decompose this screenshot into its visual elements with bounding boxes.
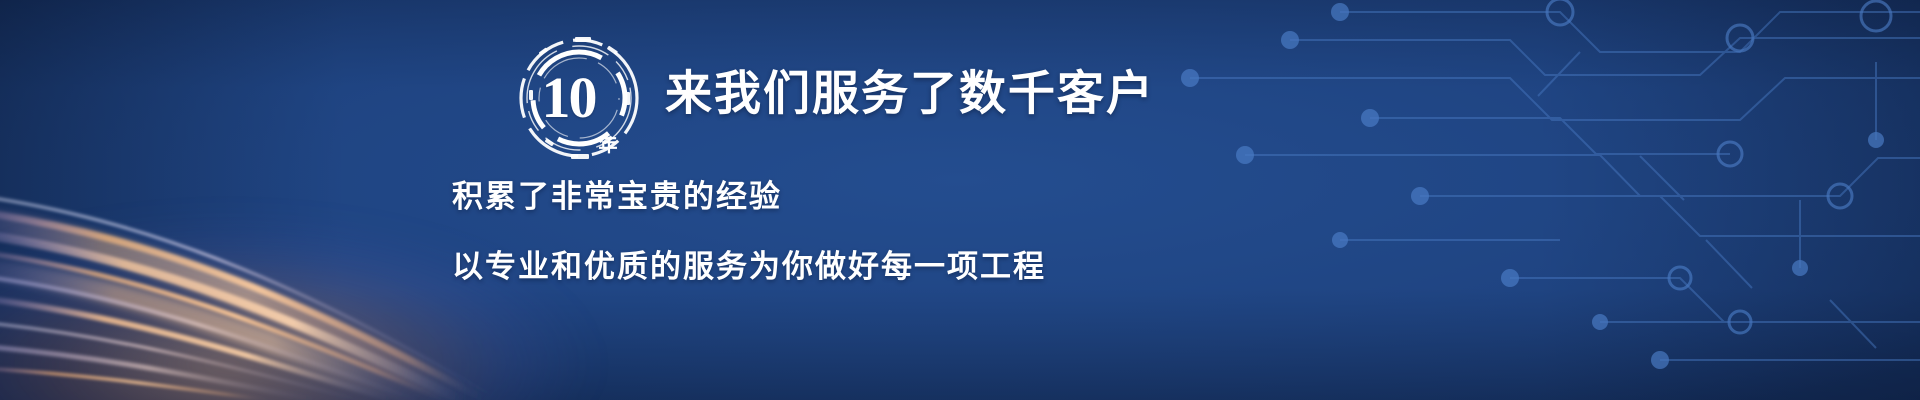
- headline-row: 10 年 来我们服务了数千客户: [430, 26, 1070, 152]
- circuit-pattern-decoration: [1040, 0, 1920, 400]
- badge-number: 10: [541, 69, 595, 127]
- anniversary-badge: 10 年: [515, 34, 643, 162]
- badge-unit: 年: [598, 136, 616, 162]
- badge-label: 10 年: [515, 34, 643, 162]
- banner-subline-1: 积累了非常宝贵的经验: [452, 171, 782, 216]
- banner-headline: 来我们服务了数千客户: [665, 55, 1155, 124]
- banner-subline-2: 以专业和优质的服务为你做好每一项工程: [452, 241, 1046, 286]
- promo-banner: 10 年 来我们服务了数千客户 积累了非常宝贵的经验 以专业和优质的服务为你做好…: [0, 0, 1920, 400]
- banner-content: 10 年 来我们服务了数千客户 积累了非常宝贵的经验 以专业和优质的服务为你做好…: [430, 26, 1070, 356]
